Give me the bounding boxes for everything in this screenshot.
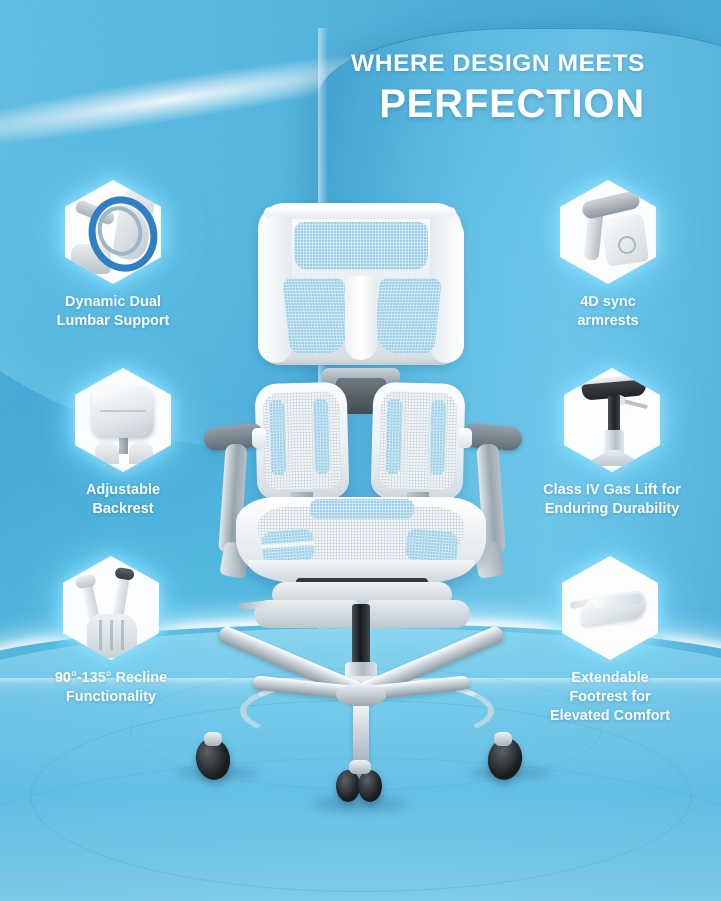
lumbar-stem-left xyxy=(291,492,313,518)
caster-shadow xyxy=(178,766,258,780)
seat-accent-left xyxy=(261,528,315,566)
armrest-icon xyxy=(560,180,656,284)
floor-contour-line xyxy=(0,758,721,901)
lumbar-accent-stripe xyxy=(385,398,402,474)
gas-cylinder xyxy=(352,604,370,666)
caption-line: 90°-135° Recline xyxy=(0,669,226,688)
armrest-cap-left xyxy=(252,428,266,448)
headline: WHERE DESIGN MEETS PERFECTION xyxy=(351,52,645,124)
floor-contour-line xyxy=(30,700,692,892)
footrest-housing xyxy=(272,582,452,608)
feature-badge xyxy=(65,180,161,284)
backrest-mesh-left xyxy=(282,278,352,354)
caption-line: armrests xyxy=(493,312,721,331)
seat-accent-right xyxy=(405,528,459,566)
tilt-bracket-top xyxy=(322,368,400,384)
chair-backrest-frame xyxy=(258,203,462,365)
lumbar-stem-right xyxy=(407,492,429,518)
lumbar-pad-left xyxy=(254,382,349,500)
gas-lift-icon xyxy=(564,368,660,472)
feature-recline-functionality[interactable]: 90°-135° Recline Functionality xyxy=(0,556,226,707)
hexagon-frame xyxy=(560,180,656,284)
feature-caption: Class IV Gas Lift for Enduring Durabilit… xyxy=(497,481,721,519)
footrest-panel-left xyxy=(254,600,358,628)
feature-dynamic-dual-lumbar-support[interactable]: Dynamic Dual Lumbar Support xyxy=(0,180,228,331)
feature-badge xyxy=(75,368,171,472)
backrest-mesh-right xyxy=(372,278,442,354)
podium-edge-highlight xyxy=(318,28,328,668)
caster-mount xyxy=(349,760,371,774)
feature-4d-sync-armrests[interactable]: 4D sync armrests xyxy=(493,180,721,331)
caption-line: Class IV Gas Lift for xyxy=(497,481,721,500)
footrest-panel-right xyxy=(366,600,470,628)
caster-wheel xyxy=(336,770,360,802)
caption-line: Enduring Durability xyxy=(497,500,721,519)
feature-caption: Extendable Footrest for Elevated Comfort xyxy=(495,669,721,726)
feature-badge xyxy=(63,556,159,660)
lumbar-accent-stripe xyxy=(313,398,330,474)
lumbar-pad-right xyxy=(370,382,465,500)
hexagon-frame xyxy=(564,368,660,472)
feature-badge xyxy=(560,180,656,284)
caption-line: 4D sync xyxy=(493,293,721,312)
lumbar-mechanism-icon xyxy=(65,180,161,284)
hexagon-frame xyxy=(75,368,171,472)
seat-accent-top xyxy=(310,499,414,519)
seat-front-edge xyxy=(248,560,474,584)
feature-caption: Dynamic Dual Lumbar Support xyxy=(0,293,228,331)
caption-line: Extendable xyxy=(495,669,721,688)
hexagon-frame xyxy=(65,180,161,284)
caption-line: Footrest for xyxy=(495,688,721,707)
caption-line: Functionality xyxy=(0,688,226,707)
caption-line: Adjustable xyxy=(8,481,238,500)
base-spoke xyxy=(353,694,369,786)
caption-line: Elevated Comfort xyxy=(495,707,721,726)
feature-caption: 4D sync armrests xyxy=(493,293,721,331)
feature-caption: 90°-135° Recline Functionality xyxy=(0,669,226,707)
product-infographic-poster: WHERE DESIGN MEETS PERFECTION Dynamic Du… xyxy=(0,0,721,901)
seat-underplate xyxy=(296,578,428,600)
lumbar-mesh xyxy=(263,391,342,491)
backrest-center-spine xyxy=(345,276,377,360)
base-spoke xyxy=(343,624,506,706)
base-ring xyxy=(240,676,494,746)
backrest-mesh-top xyxy=(294,222,428,270)
caster-wheel xyxy=(358,770,382,802)
caption-line: Backrest xyxy=(8,500,238,519)
caster-shadow xyxy=(470,766,550,780)
caster-mount xyxy=(204,732,222,746)
lumbar-mesh xyxy=(379,391,458,491)
hexagon-frame xyxy=(63,556,159,660)
feature-extendable-footrest[interactable]: Extendable Footrest for Elevated Comfort xyxy=(495,556,721,726)
headline-line-2: PERFECTION xyxy=(351,84,645,124)
gas-cylinder-collar xyxy=(345,662,377,688)
base-spoke xyxy=(216,624,379,706)
armrest-cap-right xyxy=(458,428,472,448)
caption-line: Dynamic Dual xyxy=(0,293,228,312)
feature-badge xyxy=(564,368,660,472)
feature-badge xyxy=(562,556,658,660)
caster-mount xyxy=(494,732,512,746)
base-hub xyxy=(336,684,386,706)
caster-wheel xyxy=(485,735,526,782)
feature-caption: Adjustable Backrest xyxy=(8,481,238,519)
feature-adjustable-backrest[interactable]: Adjustable Backrest xyxy=(8,368,238,519)
caster-shadow xyxy=(312,796,406,812)
lumbar-accent-stripe xyxy=(429,399,446,475)
lumbar-accent-stripe xyxy=(269,399,286,475)
feature-class-iv-gas-lift[interactable]: Class IV Gas Lift for Enduring Durabilit… xyxy=(497,368,721,519)
backrest-right-edge xyxy=(430,215,464,363)
base-spoke xyxy=(252,675,375,702)
tilt-mechanism xyxy=(336,378,386,414)
caption-line: Lumbar Support xyxy=(0,312,228,331)
seat-mesh xyxy=(258,507,464,565)
recline-lever-icon xyxy=(63,556,159,660)
headline-line-1: WHERE DESIGN MEETS xyxy=(351,52,645,77)
backrest-left-edge xyxy=(258,215,292,363)
footrest-release-lever xyxy=(238,600,269,610)
footrest-icon xyxy=(562,556,658,660)
hexagon-frame xyxy=(562,556,658,660)
backrest-icon xyxy=(75,368,171,472)
chair-seat xyxy=(236,497,486,581)
base-spoke xyxy=(347,675,470,702)
caster-wheel xyxy=(193,735,234,782)
